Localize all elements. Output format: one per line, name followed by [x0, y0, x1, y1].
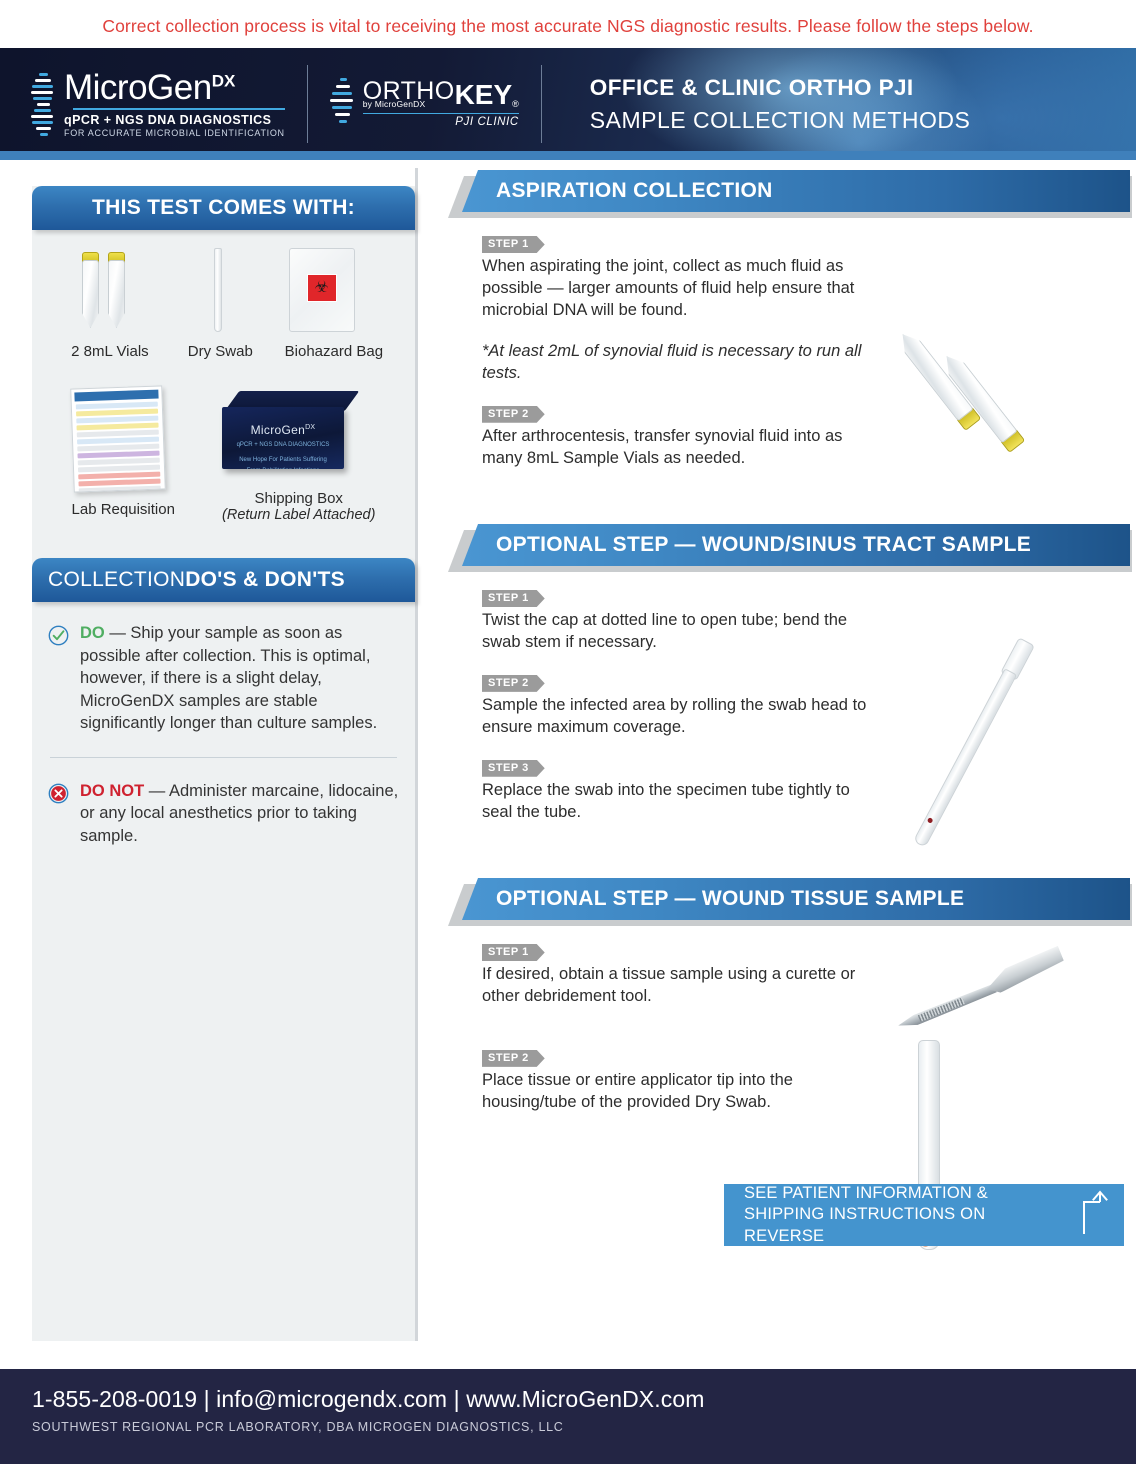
poster-page: Correct collection process is vital to r… — [0, 0, 1136, 1464]
brand-name: MicroGen — [64, 68, 212, 107]
section-1-body: STEP 1 When aspirating the joint, collec… — [448, 212, 1130, 512]
dna-helix-icon — [30, 71, 56, 137]
footer-legal: SOUTHWEST REGIONAL PCR LABORATORY, DBA M… — [32, 1420, 1136, 1434]
step-note: *At least 2mL of synovial fluid is neces… — [482, 341, 877, 385]
step-badge: STEP 1 — [482, 944, 545, 961]
do-dash: — — [105, 624, 131, 642]
step-badge: STEP 2 — [482, 406, 545, 423]
swab-tube-icon — [911, 637, 1035, 849]
footer-contact: 1-855-208-0019 | info@microgendx.com | w… — [32, 1386, 1136, 1413]
step-text: If desired, obtain a tissue sample using… — [482, 964, 877, 1008]
section-wound-sinus-tract: OPTIONAL STEP — WOUND/SINUS TRACT SAMPLE… — [448, 524, 1130, 866]
kit-item-biohazard-bag: ☣ Biohazard Bag — [285, 244, 383, 361]
dos-donts-heading: COLLECTION DO'S & DON'TS — [32, 558, 415, 602]
step-text: Twist the cap at dotted line to open tub… — [482, 610, 877, 654]
dont-row: DO NOT — Administer marcaine, lidocaine,… — [48, 780, 399, 847]
logo-divider — [307, 65, 308, 143]
section-aspiration-collection: ASPIRATION COLLECTION STEP 1 When aspira… — [448, 170, 1130, 512]
microgendx-logo: MicroGenDX qPCR + NGS DNA DIAGNOSTICS FO… — [30, 70, 285, 138]
section-3-header: OPTIONAL STEP — WOUND TISSUE SAMPLE — [462, 878, 1130, 920]
content-area: THIS TEST COMES WITH: 2 8mL Vials Dry Sw… — [0, 160, 1136, 1341]
dont-text: DO NOT — Administer marcaine, lidocaine,… — [80, 780, 399, 847]
dos-donts-body: DO — Ship your sample as soon as possibl… — [32, 602, 415, 865]
kit-row-top: 2 8mL Vials Dry Swab ☣ Biohazard Bag — [48, 244, 399, 361]
brand-tagline: qPCR + NGS DNA DIAGNOSTICS — [64, 114, 285, 127]
kit-panel-body: 2 8mL Vials Dry Swab ☣ Biohazard Bag — [32, 230, 415, 542]
column-divider — [415, 168, 418, 1341]
dos-donts-heading-bold: DO'S & DON'TS — [185, 568, 345, 592]
step-badge: STEP 3 — [482, 760, 545, 777]
orthokey-rule — [363, 113, 519, 115]
reverse-line1: SEE PATIENT INFORMATION & — [744, 1183, 1066, 1204]
kit-panel-heading: THIS TEST COMES WITH: — [32, 186, 415, 230]
kit-item-shipping-box: MicroGenDX qPCR + NGS DNA DIAGNOSTICS Ne… — [222, 383, 375, 525]
swab-icon — [188, 244, 248, 336]
section-2-body: STEP 1 Twist the cap at dotted line to o… — [448, 566, 1130, 866]
vials-icon — [64, 244, 156, 336]
banner-bottom-stripe — [0, 151, 1136, 160]
step-text: When aspirating the joint, collect as mu… — [482, 256, 877, 322]
title-divider — [541, 65, 542, 143]
section-3-steps: STEP 1 If desired, obtain a tissue sampl… — [482, 942, 877, 1114]
banner-title-line2: SAMPLE COLLECTION METHODS — [590, 107, 971, 134]
orthokey-logo: ORTHO by MicroGenDX KEY ® PJI CLINIC — [330, 76, 519, 132]
lab-requisition-icon — [72, 387, 164, 491]
kit-label-bag: Biohazard Bag — [285, 343, 383, 361]
dont-keyword: DO NOT — [80, 782, 144, 800]
kit-label-box: Shipping Box (Return Label Attached) — [222, 490, 375, 525]
step-badge: STEP 1 — [482, 236, 545, 253]
brand-rule — [73, 108, 285, 110]
kit-label-swab: Dry Swab — [188, 343, 253, 361]
reverse-callout-text: SEE PATIENT INFORMATION & SHIPPING INSTR… — [744, 1183, 1066, 1246]
do-keyword: DO — [80, 624, 105, 642]
kit-label-box-sub: (Return Label Attached) — [222, 507, 375, 524]
orthokey-word-key: KEY — [455, 81, 513, 109]
section-2-heading: OPTIONAL STEP — WOUND/SINUS TRACT SAMPLE — [462, 524, 1130, 566]
header-banner: MicroGenDX qPCR + NGS DNA DIAGNOSTICS FO… — [0, 48, 1136, 160]
kit-label-box-main: Shipping Box — [255, 490, 343, 507]
reverse-line2: SHIPPING INSTRUCTIONS ON REVERSE — [744, 1204, 1066, 1246]
shipping-box-icon: MicroGenDX qPCR + NGS DNA DIAGNOSTICS Ne… — [222, 383, 362, 483]
step-badge: STEP 2 — [482, 675, 545, 692]
dont-dash: — — [144, 782, 169, 800]
kit-item-requisition: Lab Requisition — [72, 387, 175, 519]
top-notice: Correct collection process is vital to r… — [0, 0, 1136, 48]
step-text: Replace the swab into the specimen tube … — [482, 780, 877, 824]
section-3-heading: OPTIONAL STEP — WOUND TISSUE SAMPLE — [462, 878, 1130, 920]
left-sidebar: THIS TEST COMES WITH: 2 8mL Vials Dry Sw… — [32, 186, 415, 1341]
orthokey-subtitle: PJI CLINIC — [363, 117, 519, 129]
scalpel-icon — [892, 944, 1070, 1042]
kit-label-vials: 2 8mL Vials — [64, 343, 156, 361]
right-content: ASPIRATION COLLECTION STEP 1 When aspira… — [448, 160, 1130, 1246]
step-badge: STEP 2 — [482, 1050, 545, 1067]
section-2-header: OPTIONAL STEP — WOUND/SINUS TRACT SAMPLE — [462, 524, 1130, 566]
step-text: After arthrocentesis, transfer synovial … — [482, 426, 877, 470]
page-footer: 1-855-208-0019 | info@microgendx.com | w… — [0, 1369, 1136, 1464]
section-2-steps: STEP 1 Twist the cap at dotted line to o… — [482, 588, 877, 824]
brand-subtagline: FOR ACCURATE MICROBIAL IDENTIFICATION — [64, 129, 285, 138]
section-1-header: ASPIRATION COLLECTION — [462, 170, 1130, 212]
banner-title-line1: OFFICE & CLINIC ORTHO PJI — [590, 75, 971, 101]
banner-title: OFFICE & CLINIC ORTHO PJI SAMPLE COLLECT… — [590, 75, 971, 134]
biohazard-bag-icon: ☣ — [285, 244, 359, 336]
registered-mark-icon: ® — [512, 100, 519, 109]
brand-superscript: DX — [212, 72, 236, 91]
kit-item-vials: 2 8mL Vials — [64, 244, 156, 361]
step-badge: STEP 1 — [482, 590, 545, 607]
dna-node-icon — [330, 76, 356, 132]
reverse-callout[interactable]: SEE PATIENT INFORMATION & SHIPPING INSTR… — [724, 1184, 1124, 1246]
step-text: Place tissue or entire applicator tip in… — [482, 1070, 877, 1114]
x-circle-icon — [48, 783, 70, 809]
do-row: DO — Ship your sample as soon as possibl… — [48, 622, 399, 734]
swab-tube-illustration — [868, 644, 1098, 844]
dos-donts-heading-normal: COLLECTION — [48, 568, 185, 592]
two-vials-illustration — [896, 322, 1096, 502]
section-1-steps: STEP 1 When aspirating the joint, collec… — [482, 234, 877, 470]
dos-donts-divider — [50, 757, 397, 758]
check-circle-icon — [48, 625, 70, 651]
up-arrow-icon — [1076, 1190, 1110, 1241]
do-text: DO — Ship your sample as soon as possibl… — [80, 622, 399, 734]
section-1-heading: ASPIRATION COLLECTION — [462, 170, 1130, 212]
kit-label-requisition: Lab Requisition — [72, 501, 175, 519]
step-text: Sample the infected area by rolling the … — [482, 695, 877, 739]
kit-item-swab: Dry Swab — [188, 244, 253, 361]
kit-row-bottom: Lab Requisition MicroGenDX qPCR + NGS DN… — [48, 383, 399, 525]
